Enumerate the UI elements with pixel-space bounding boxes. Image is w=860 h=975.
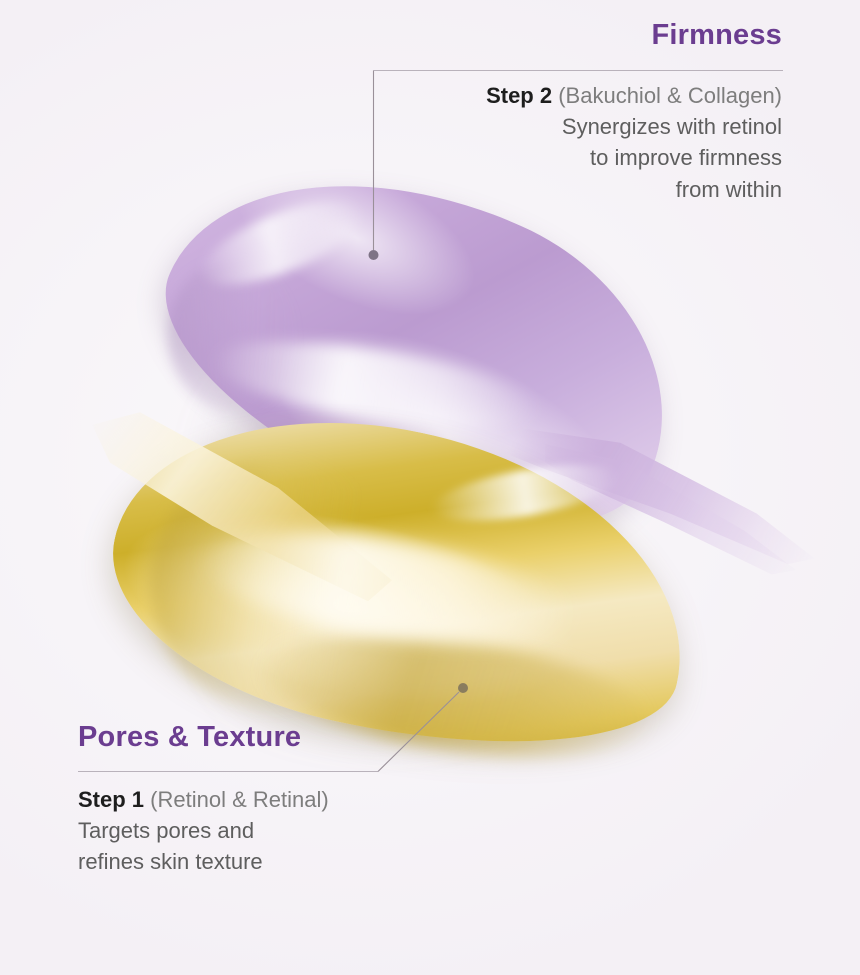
- callout-firmness-ingredients: (Bakuchiol & Collagen): [558, 83, 782, 108]
- callout-pores-step-label: Step 1: [78, 787, 144, 812]
- callout-pores-ingredients: (Retinol & Retinal): [150, 787, 329, 812]
- callout-pores-line-1: Targets pores and: [78, 815, 329, 846]
- callout-firmness-line-2: to improve firmness: [486, 142, 782, 173]
- callout-firmness-title: Firmness: [486, 20, 782, 52]
- callout-firmness-step-row: Step 2 (Bakuchiol & Collagen): [486, 80, 782, 111]
- pores-marker-dot: [458, 683, 468, 693]
- firmness-marker-dot: [369, 250, 379, 260]
- pores-leader-line: [378, 692, 459, 772]
- callout-firmness-step-label: Step 2: [486, 83, 552, 108]
- callout-pores-step-row: Step 1 (Retinol & Retinal): [78, 784, 329, 815]
- callout-pores: Pores & Texture Step 1 (Retinol & Retina…: [78, 722, 329, 878]
- callout-firmness-line-1: Synergizes with retinol: [486, 111, 782, 142]
- product-infographic: Firmness Step 2 (Bakuchiol & Collagen) S…: [0, 0, 860, 975]
- callout-pores-title: Pores & Texture: [78, 722, 329, 754]
- callout-firmness-line-3: from within: [486, 174, 782, 205]
- callout-firmness: Firmness Step 2 (Bakuchiol & Collagen) S…: [486, 20, 782, 205]
- callout-pores-line-2: refines skin texture: [78, 846, 329, 877]
- callout-firmness-body: Step 2 (Bakuchiol & Collagen) Synergizes…: [486, 80, 782, 205]
- callout-pores-body: Step 1 (Retinol & Retinal) Targets pores…: [78, 784, 329, 878]
